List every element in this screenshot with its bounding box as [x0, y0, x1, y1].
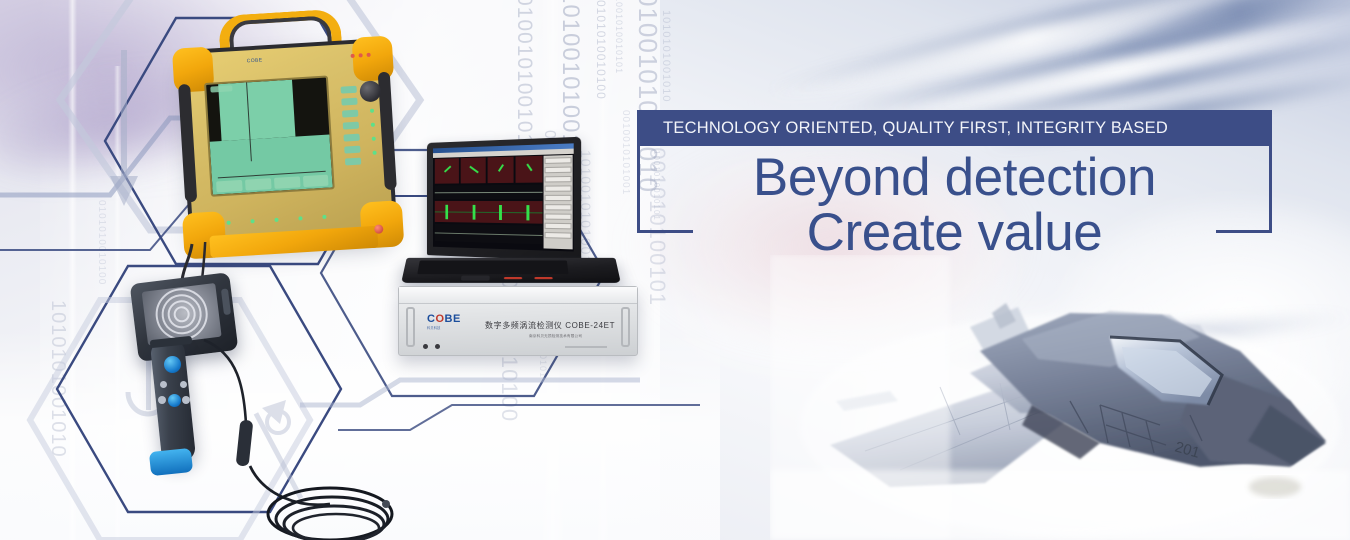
- eddy-control-panel: [544, 155, 573, 249]
- headline-line-1: Beyond detection: [753, 148, 1156, 207]
- scope-button[interactable]: [158, 396, 166, 404]
- instrument-logo: COBE: [427, 313, 461, 325]
- handheld-videoscope: [120, 278, 310, 493]
- laptop-base: [401, 258, 621, 283]
- instrument-logo-sub: 科贝科技: [427, 325, 441, 330]
- signal-peak: [526, 205, 529, 220]
- scope-joystick[interactable]: [164, 356, 181, 373]
- eddy-signal-grid: [435, 156, 543, 249]
- signal-peak: [473, 205, 476, 220]
- panel-readout: [545, 157, 572, 164]
- laptop-keyboard[interactable]: [417, 260, 568, 274]
- laptop-lid: [427, 137, 581, 262]
- rack-handle: [406, 307, 415, 347]
- headline-line-2: Create value: [637, 205, 1272, 260]
- panel-readout: [545, 232, 572, 239]
- signal-peak: [445, 205, 448, 219]
- signal-peak: [499, 205, 502, 220]
- eddy-current-instrument: COBE 科贝科技 数字多频涡流检测仪 COBE-24ET 南京科贝无损检测技术…: [398, 286, 638, 356]
- down-arrow-icon: [110, 50, 138, 206]
- tagline-bar: TECHNOLOGY ORIENTED, QUALITY FIRST, INTE…: [637, 110, 1272, 146]
- panel-readout: [545, 223, 572, 230]
- tagline-text: TECHNOLOGY ORIENTED, QUALITY FIRST, INTE…: [637, 119, 1168, 138]
- portable-flaw-detector: COBE: [172, 31, 405, 259]
- panel-readout: [545, 195, 572, 201]
- laptop-indicator: [504, 277, 522, 279]
- scope-button[interactable]: [160, 381, 167, 388]
- detector-screen: [204, 75, 335, 196]
- detector-softkey: [303, 175, 329, 188]
- detector-menu-key: [343, 134, 359, 142]
- hero-banner: 0100101001010 1010010100101 010101001010…: [0, 0, 1350, 540]
- laptop-touchpad[interactable]: [461, 276, 490, 281]
- rack-handle: [621, 307, 630, 347]
- panel-readout: [545, 204, 572, 210]
- laptop-indicator: [534, 277, 552, 279]
- rack-led: [435, 344, 440, 349]
- instrument-company-label: 南京科贝无损检测技术有限公司: [529, 334, 582, 339]
- jet-left-fade: [770, 255, 950, 540]
- detector-menu-key: [344, 146, 360, 154]
- logo-letter-o: O: [435, 313, 444, 325]
- eddy-current-workstation: COBE 科贝科技 数字多频涡流检测仪 COBE-24ET 南京科贝无损检测技术…: [398, 140, 643, 355]
- rack-vent: [565, 346, 607, 348]
- detector-softkey: [274, 176, 301, 189]
- rack-top-panel: [399, 287, 637, 304]
- laptop-screen: [433, 143, 574, 251]
- logo-letters-be: BE: [445, 313, 461, 325]
- rack-led: [423, 344, 428, 349]
- panel-readout: [545, 166, 572, 173]
- panel-readout: [545, 185, 572, 191]
- detector-menu-key: [343, 122, 359, 130]
- detector-menu-key: [342, 110, 358, 118]
- headline: Beyond detection Create value: [637, 150, 1272, 260]
- instrument-model-label: 数字多频涡流检测仪 COBE-24ET: [485, 320, 615, 331]
- panel-readout: [545, 213, 572, 220]
- detector-softkey: [216, 180, 243, 193]
- detector-softkey: [245, 178, 272, 191]
- detector-menu-key: [345, 158, 361, 166]
- fighter-jet: 201: [770, 255, 1350, 540]
- detector-brand-label: COBE: [247, 57, 263, 64]
- scope-side-port: [221, 288, 231, 315]
- scope-insertion-tube: [180, 328, 410, 540]
- detector-menu-key: [341, 98, 357, 106]
- panel-readout: [545, 176, 572, 183]
- detector-menu-key: [341, 86, 357, 94]
